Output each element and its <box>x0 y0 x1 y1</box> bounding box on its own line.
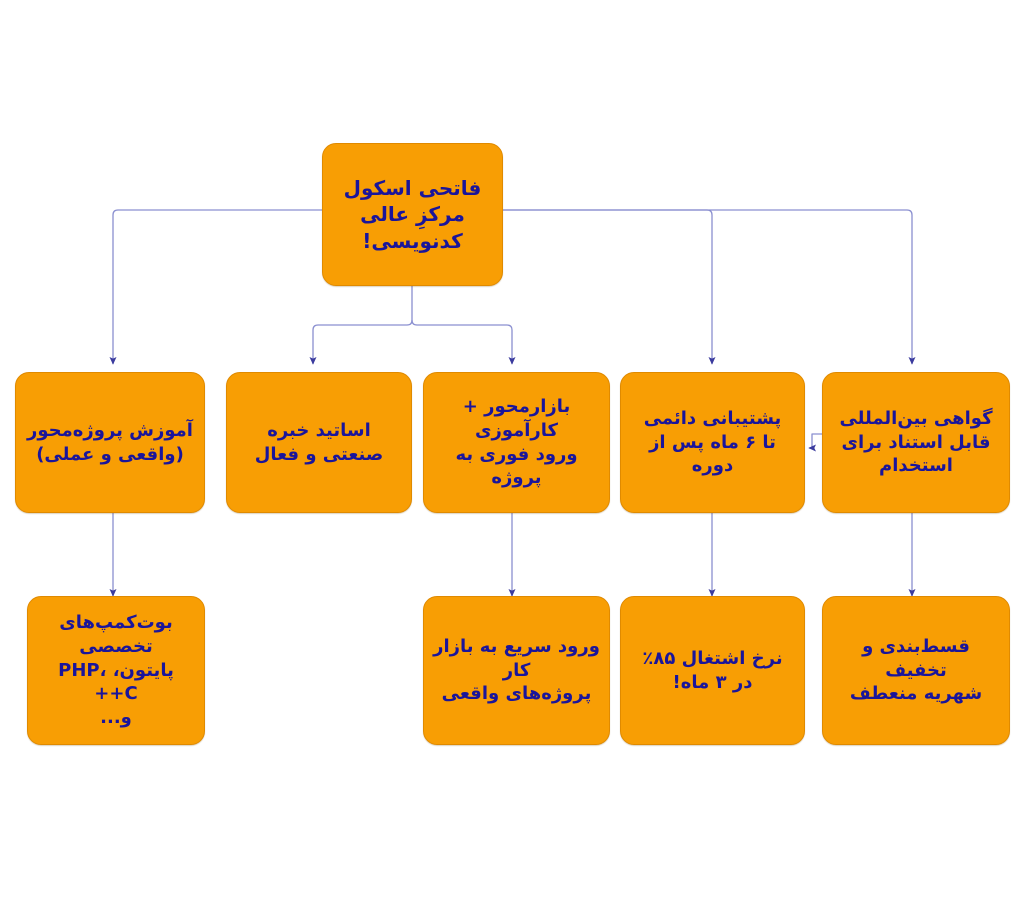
node-fast-market-entry-label: ورود سریع به بازار کار پروژه‌های واقعی <box>424 635 609 706</box>
node-international-certificate[interactable]: گواهی بین‌المللی قابل استناد برای استخدا… <box>822 372 1010 513</box>
edge-root-to-n4 <box>503 210 712 364</box>
node-root-label: فاتحی اسکول مرکزِ عالی کدنویسی! <box>323 175 502 254</box>
node-specialized-bootcamps-label: بوت‌کمپ‌های تخصصی پایتون، PHP، C++ و... <box>28 611 204 730</box>
diagram-canvas: فاتحی اسکول مرکزِ عالی کدنویسی! آموزش پر… <box>0 0 1024 910</box>
node-specialized-bootcamps[interactable]: بوت‌کمپ‌های تخصصی پایتون، PHP، C++ و... <box>27 596 205 745</box>
node-permanent-support[interactable]: پشتیبانی دائمی تا ۶ ماه پس از دوره <box>620 372 805 513</box>
node-project-based-training-label: آموزش پروژه‌محور (واقعی و عملی) <box>16 419 204 467</box>
edge-root-to-n2 <box>313 320 412 364</box>
node-installment-discount[interactable]: قسط‌بندی و تخفیف شهریه منعطف <box>822 596 1010 745</box>
edge-root-to-n1 <box>113 210 322 364</box>
node-employment-rate[interactable]: نرخ اشتغال ۸۵٪ در ۳ ماه! <box>620 596 805 745</box>
node-expert-instructors[interactable]: اساتید خبره صنعتی و فعال <box>226 372 412 513</box>
node-fast-market-entry[interactable]: ورود سریع به بازار کار پروژه‌های واقعی <box>423 596 610 745</box>
node-international-certificate-label: گواهی بین‌المللی قابل استناد برای استخدا… <box>823 407 1009 478</box>
edge-n5-to-n4 <box>809 434 822 448</box>
node-employment-rate-label: نرخ اشتغال ۸۵٪ در ۳ ماه! <box>621 647 804 695</box>
edge-root-to-n5 <box>503 210 912 364</box>
node-expert-instructors-label: اساتید خبره صنعتی و فعال <box>227 419 411 467</box>
edge-root-to-n3 <box>412 320 512 364</box>
node-market-oriented-internship-label: بازارمحور + کارآموزی ورود فوری به پروژه <box>424 395 609 490</box>
node-installment-discount-label: قسط‌بندی و تخفیف شهریه منعطف <box>823 635 1009 706</box>
node-project-based-training[interactable]: آموزش پروژه‌محور (واقعی و عملی) <box>15 372 205 513</box>
node-root[interactable]: فاتحی اسکول مرکزِ عالی کدنویسی! <box>322 143 503 286</box>
node-permanent-support-label: پشتیبانی دائمی تا ۶ ماه پس از دوره <box>621 407 804 478</box>
node-market-oriented-internship[interactable]: بازارمحور + کارآموزی ورود فوری به پروژه <box>423 372 610 513</box>
